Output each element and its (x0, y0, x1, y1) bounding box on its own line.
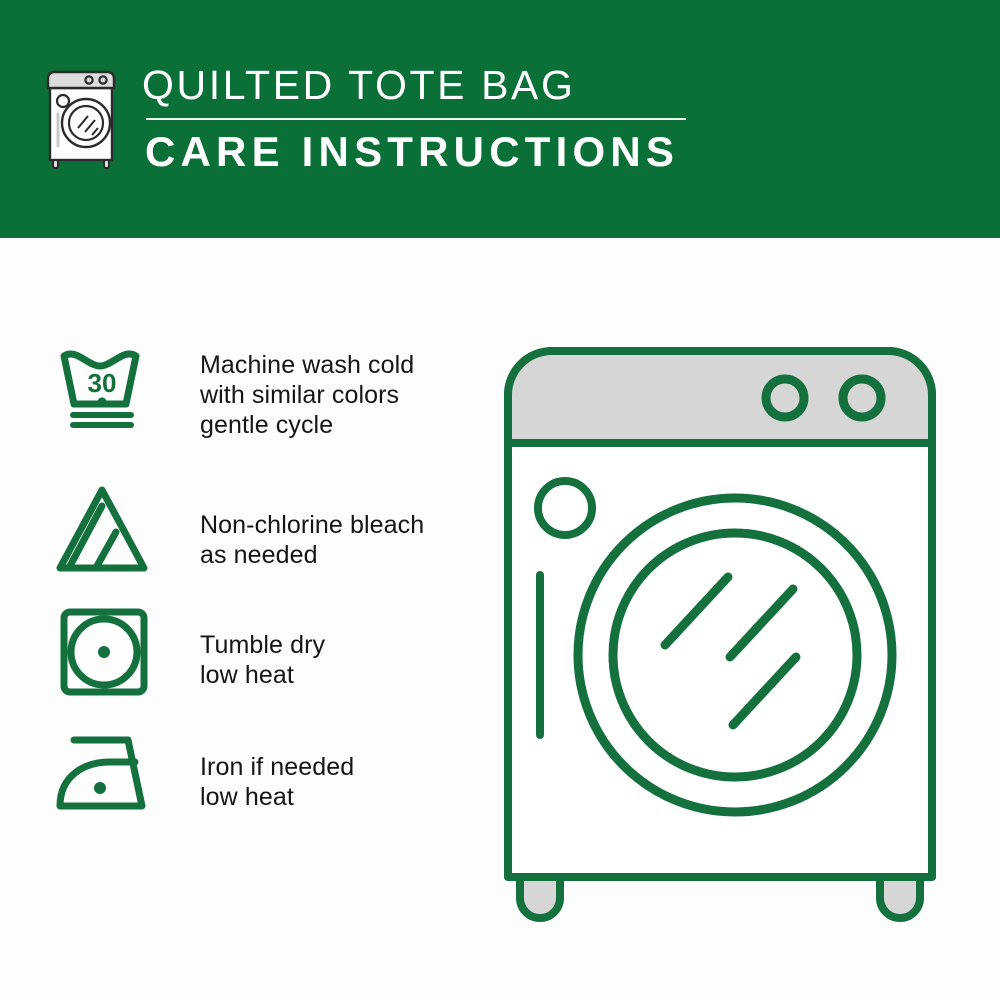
page-title: QUILTED TOTE BAG (142, 62, 686, 108)
header-banner: QUILTED TOTE BAG CARE INSTRUCTIONS (0, 0, 1000, 238)
tumble-dry-low-heat-icon (50, 604, 154, 700)
care-item-machine-wash: 30 Machine wash cold with similar colors… (50, 340, 470, 440)
front-load-washing-machine-illustration (480, 325, 980, 945)
care-instructions-list: 30 Machine wash cold with similar colors… (50, 340, 470, 818)
wash-temperature-label: 30 (88, 368, 117, 398)
dry-heat-dot (98, 646, 110, 658)
care-item-iron: Iron if needed low heat (50, 732, 470, 818)
care-item-tumble-dry: Tumble dry low heat (50, 604, 470, 700)
care-symbol-slot: 30 (50, 340, 162, 432)
care-symbol-slot (50, 732, 162, 818)
care-symbol-slot (50, 604, 162, 700)
care-symbol-slot (50, 480, 162, 576)
care-line: low heat (200, 782, 354, 812)
gentle-bar-1 (70, 412, 134, 418)
care-item-label: Tumble dry low heat (162, 604, 325, 690)
care-line: as needed (200, 540, 424, 570)
wash-tub-30-gentle-icon: 30 (50, 340, 154, 432)
care-item-bleach: Non-chlorine bleach as needed (50, 480, 470, 576)
care-line: Non-chlorine bleach (200, 510, 424, 540)
care-line: Machine wash cold (200, 350, 414, 380)
washing-machine-icon (42, 66, 126, 170)
care-line: gentle cycle (200, 410, 414, 440)
title-divider (146, 118, 686, 120)
page-subtitle: CARE INSTRUCTIONS (142, 128, 686, 176)
care-item-label: Non-chlorine bleach as needed (162, 480, 424, 570)
control-panel[interactable] (508, 351, 932, 443)
header-title-group: QUILTED TOTE BAG CARE INSTRUCTIONS (142, 62, 686, 176)
header-content: QUILTED TOTE BAG CARE INSTRUCTIONS (42, 62, 686, 176)
care-line: with similar colors (200, 380, 414, 410)
care-line: Iron if needed (200, 752, 354, 782)
care-item-label: Machine wash cold with similar colors ge… (162, 340, 414, 440)
care-item-label: Iron if needed low heat (162, 732, 354, 812)
triangle-non-chlorine-bleach-icon (50, 480, 154, 576)
iron-heat-dot (94, 782, 106, 794)
gentle-bar-2 (70, 422, 134, 428)
care-line: Tumble dry (200, 630, 325, 660)
iron-low-heat-icon (50, 732, 154, 818)
wash-dot (97, 397, 106, 406)
care-line: low heat (200, 660, 325, 690)
